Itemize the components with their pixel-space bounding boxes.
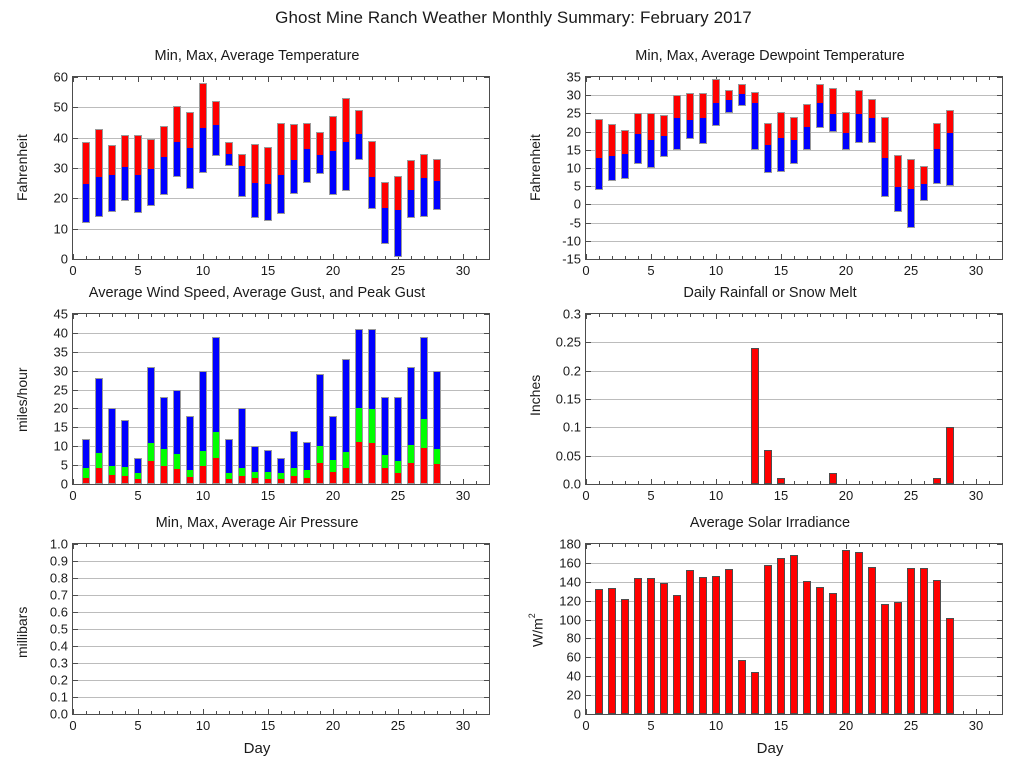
y-tick-mark (997, 563, 1002, 564)
bar-wind (290, 431, 298, 484)
bar-wind (342, 359, 350, 484)
bar-segment-max (921, 167, 927, 183)
bar (608, 588, 616, 714)
bar-segment-avg-wind (109, 475, 115, 484)
bar-segment-avg-gust (356, 408, 362, 442)
bar-segment-peak-gust (343, 360, 349, 451)
x-tick-mark-minor (411, 77, 412, 80)
bar-minmax (790, 117, 798, 164)
x-tick-mark-minor (768, 544, 769, 547)
x-tick-mark-minor (216, 77, 217, 80)
bar-segment-avg-wind (200, 466, 206, 484)
x-tick-mark-minor (950, 314, 951, 317)
x-tick-mark-minor (190, 314, 191, 317)
bar (751, 348, 759, 484)
bar-minmax (368, 141, 376, 209)
x-tick-label: 30 (456, 263, 470, 278)
x-tick-mark (976, 709, 977, 714)
x-tick-mark-minor (476, 77, 477, 80)
bar-segment-min (135, 175, 141, 213)
bar-segment-avg-wind (291, 476, 297, 484)
x-tick-mark-minor (833, 544, 834, 547)
bar-wind (225, 439, 233, 484)
x-tick-mark-minor (476, 314, 477, 317)
x-tick-mark-minor (989, 481, 990, 484)
x-tick-mark-minor (872, 544, 873, 547)
x-tick-label: 10 (709, 263, 723, 278)
x-tick-mark-minor (963, 314, 964, 317)
bar-wind (238, 408, 246, 484)
x-tick-mark-minor (164, 711, 165, 714)
y-axis-label-solar-superscript: 2 (527, 613, 537, 618)
x-tick-mark (586, 254, 587, 259)
x-tick-mark-minor (372, 256, 373, 259)
bar-segment-max (934, 124, 940, 149)
bar (712, 576, 720, 714)
bar-segment-min (713, 103, 719, 126)
bar-segment-avg-gust (343, 452, 349, 468)
bar-wind (264, 450, 272, 484)
x-tick-label: 15 (261, 488, 275, 503)
x-tick-mark-minor (411, 544, 412, 547)
bar (764, 565, 772, 714)
x-tick-mark-minor (833, 256, 834, 259)
x-tick-mark-minor (294, 314, 295, 317)
bar-segment-min (148, 169, 154, 206)
y-tick-label: 10 (54, 439, 68, 454)
x-tick-mark-minor (190, 77, 191, 80)
x-tick-mark-minor (599, 481, 600, 484)
bar-segment-peak-gust (109, 409, 115, 466)
bar-wind (147, 367, 155, 484)
bar-wind (277, 458, 285, 484)
x-tick-mark-minor (437, 256, 438, 259)
bar (868, 567, 876, 714)
x-tick-mark-minor (177, 544, 178, 547)
y-tick-mark (586, 620, 591, 621)
plot-area-pressure: 0.00.10.20.30.40.50.60.70.80.91.00510152… (72, 543, 490, 715)
x-tick-mark-minor (859, 77, 860, 80)
x-tick-mark-minor (690, 314, 691, 317)
y-tick-mark (997, 259, 1002, 260)
x-tick-mark-minor (489, 544, 490, 547)
x-tick-mark (463, 254, 464, 259)
x-tick-label: 20 (326, 488, 340, 503)
bar-minmax (277, 123, 285, 214)
gridline (73, 646, 489, 647)
bar-segment-max (148, 140, 154, 169)
bar-minmax (673, 95, 681, 150)
bar-segment-avg-wind (304, 478, 310, 484)
bar-minmax (173, 106, 181, 177)
x-tick-mark-minor (794, 544, 795, 547)
x-tick-mark-minor (151, 544, 152, 547)
bar-minmax (608, 124, 616, 180)
bar-minmax (946, 110, 954, 186)
x-tick-mark (73, 479, 74, 484)
x-tick-mark-minor (807, 256, 808, 259)
bar-wind (108, 408, 116, 484)
x-tick-mark-minor (476, 544, 477, 547)
x-tick-mark-minor (859, 314, 860, 317)
x-tick-mark-minor (112, 711, 113, 714)
y-tick-mark (997, 186, 1002, 187)
bar-minmax (108, 145, 116, 212)
y-tick-label: -10 (562, 233, 581, 248)
x-tick-mark-minor (898, 481, 899, 484)
x-tick-mark-minor (820, 314, 821, 317)
y-tick-label: 20 (54, 191, 68, 206)
x-tick-mark-minor (281, 77, 282, 80)
bar-minmax (433, 159, 441, 211)
bar-segment-max (674, 96, 680, 118)
x-tick-mark-minor (437, 711, 438, 714)
y-tick-mark (997, 150, 1002, 151)
x-tick-label: 0 (582, 263, 589, 278)
x-tick-mark-minor (99, 314, 100, 317)
x-tick-mark-minor (359, 77, 360, 80)
x-tick-label: 5 (134, 488, 141, 503)
x-tick-mark (268, 77, 269, 82)
gridline (73, 697, 489, 698)
y-tick-mark (484, 595, 489, 596)
bar-wind (173, 390, 181, 484)
bar-segment-peak-gust (200, 372, 206, 451)
bar-minmax (933, 123, 941, 185)
x-tick-mark (463, 77, 464, 82)
x-tick-mark (463, 314, 464, 319)
x-tick-label: 15 (261, 718, 275, 733)
bar-segment-max (122, 136, 128, 168)
x-tick-mark-minor (359, 314, 360, 317)
x-tick-mark-minor (242, 256, 243, 259)
bar-segment-max (661, 116, 667, 136)
x-tick-mark-minor (937, 256, 938, 259)
bar-segment-max (408, 161, 414, 190)
x-tick-mark-minor (599, 77, 600, 80)
bar-segment-max (648, 114, 654, 139)
y-tick-mark (484, 352, 489, 353)
y-tick-label: 0.0 (50, 707, 68, 722)
bar-minmax (621, 130, 629, 179)
bar-segment-peak-gust (96, 379, 102, 453)
bar (699, 577, 707, 714)
y-tick-mark (586, 150, 591, 151)
bar-segment-min (200, 128, 206, 173)
bar-minmax (121, 135, 129, 202)
bar-segment-min (304, 149, 310, 183)
bar (777, 558, 785, 714)
y-axis-label-solar-base: W/m (530, 618, 546, 647)
x-tick-label: 20 (326, 718, 340, 733)
bar-minmax (212, 101, 220, 156)
x-tick-mark (333, 77, 334, 82)
y-tick-mark (586, 168, 591, 169)
bar-segment-avg-wind (122, 476, 128, 484)
x-tick-mark (138, 709, 139, 714)
x-tick-mark-minor (242, 544, 243, 547)
bar-segment-peak-gust (148, 368, 154, 443)
y-tick-label: 30 (54, 161, 68, 176)
x-tick-mark-minor (242, 314, 243, 317)
bar-minmax (264, 147, 272, 221)
x-tick-mark-minor (885, 481, 886, 484)
bar-segment-min (817, 103, 823, 127)
bar-minmax (738, 84, 746, 106)
bar-segment-peak-gust (395, 398, 401, 461)
gridline (586, 427, 1002, 428)
bar (790, 555, 798, 714)
x-tick-mark-minor (307, 314, 308, 317)
x-tick-mark (716, 544, 717, 549)
x-tick-label: 5 (134, 263, 141, 278)
x-tick-mark-minor (424, 314, 425, 317)
y-tick-label: 140 (559, 574, 581, 589)
bar-segment-avg-gust (265, 472, 271, 480)
y-tick-mark (73, 427, 78, 428)
x-tick-mark-minor (989, 711, 990, 714)
y-tick-mark (484, 484, 489, 485)
x-tick-mark-minor (437, 314, 438, 317)
x-tick-mark-minor (242, 711, 243, 714)
x-tick-mark-minor (255, 711, 256, 714)
x-tick-mark-minor (450, 544, 451, 547)
bar-segment-avg-wind (226, 479, 232, 484)
x-tick-mark-minor (1002, 544, 1003, 547)
y-tick-mark (997, 620, 1002, 621)
x-tick-mark-minor (489, 77, 490, 80)
x-tick-mark-minor (190, 256, 191, 259)
bar-minmax (303, 123, 311, 184)
y-tick-label: 5 (61, 458, 68, 473)
bar-segment-min (265, 184, 271, 221)
x-tick-mark (463, 544, 464, 549)
x-tick-label: 15 (774, 718, 788, 733)
y-tick-mark (586, 601, 591, 602)
bar-segment-avg-gust (239, 468, 245, 476)
x-tick-mark (268, 314, 269, 319)
x-tick-mark-minor (411, 314, 412, 317)
chart-title-rainfall: Daily Rainfall or Snow Melt (513, 285, 1027, 301)
x-tick-mark-minor (294, 711, 295, 714)
y-tick-mark (586, 95, 591, 96)
y-tick-label: 60 (567, 650, 581, 665)
x-tick-label: 20 (839, 488, 853, 503)
x-tick-mark-minor (151, 711, 152, 714)
x-tick-mark (716, 479, 717, 484)
bar-segment-avg-wind (382, 468, 388, 484)
bar-minmax (95, 129, 103, 217)
bar-minmax (725, 90, 733, 114)
bar-segment-max (83, 143, 89, 184)
bar (855, 552, 863, 714)
x-tick-mark-minor (898, 314, 899, 317)
x-tick-mark (398, 77, 399, 82)
x-tick-mark-minor (807, 77, 808, 80)
bar-segment-avg-wind (408, 463, 414, 484)
y-tick-label: 35 (567, 70, 581, 85)
x-tick-mark-minor (294, 77, 295, 80)
bar-wind (95, 378, 103, 484)
x-axis-label-pressure: Day (0, 740, 514, 757)
y-tick-label: 100 (559, 612, 581, 627)
x-tick-label: 30 (969, 718, 983, 733)
x-tick-mark-minor (1002, 77, 1003, 80)
y-tick-mark (73, 446, 78, 447)
x-tick-mark (846, 314, 847, 319)
x-tick-mark-minor (989, 544, 990, 547)
y-tick-mark (73, 138, 78, 139)
y-tick-mark (73, 612, 78, 613)
bar-segment-peak-gust (330, 417, 336, 460)
x-tick-mark-minor (872, 77, 873, 80)
y-tick-mark (73, 390, 78, 391)
y-tick-label: 45 (54, 307, 68, 322)
x-tick-mark (976, 479, 977, 484)
bar-segment-max (856, 91, 862, 115)
x-tick-mark-minor (489, 314, 490, 317)
y-axis-label-pressure: millibars (14, 557, 30, 707)
y-tick-mark (73, 697, 78, 698)
x-tick-mark (333, 544, 334, 549)
bar-wind (303, 442, 311, 484)
x-tick-mark-minor (385, 256, 386, 259)
chart-panel-wind: Average Wind Speed, Average Gust, and Pe… (0, 285, 514, 517)
bar-minmax (160, 126, 168, 196)
x-tick-mark-minor (963, 544, 964, 547)
y-tick-label: 0.2 (50, 673, 68, 688)
x-tick-mark-minor (450, 314, 451, 317)
bar-segment-max (830, 89, 836, 114)
bar (803, 581, 811, 714)
x-tick-mark-minor (177, 77, 178, 80)
x-tick-mark-minor (255, 256, 256, 259)
y-axis-label-solar: W/m2 (527, 565, 546, 695)
bar-segment-avg-wind (265, 479, 271, 484)
y-tick-label: 20 (54, 401, 68, 416)
bar-wind (407, 367, 415, 484)
bar-segment-avg-wind (434, 464, 440, 484)
bar-segment-min (635, 134, 641, 164)
x-tick-mark-minor (476, 481, 477, 484)
y-tick-mark (484, 561, 489, 562)
bar-segment-avg-wind (174, 469, 180, 484)
x-tick-mark-minor (450, 481, 451, 484)
bar-segment-avg-wind (356, 442, 362, 484)
bar-segment-max (622, 131, 628, 155)
x-tick-mark-minor (255, 544, 256, 547)
x-tick-mark-minor (924, 256, 925, 259)
bar-segment-avg-wind (161, 466, 167, 484)
bar-segment-min (934, 149, 940, 184)
bar-segment-min (882, 158, 888, 197)
x-tick-mark-minor (755, 314, 756, 317)
x-tick-mark (73, 77, 74, 82)
bar (907, 568, 915, 714)
gridline (73, 612, 489, 613)
bar-segment-avg-wind (421, 448, 427, 484)
bar-segment-min (609, 156, 615, 180)
x-tick-mark-minor (625, 314, 626, 317)
bar-segment-min (843, 133, 849, 150)
x-tick-mark-minor (742, 314, 743, 317)
x-tick-mark (398, 314, 399, 319)
bar-minmax (225, 142, 233, 166)
y-tick-mark (586, 657, 591, 658)
x-tick-mark-minor (885, 256, 886, 259)
bar-segment-avg-gust (174, 454, 180, 469)
bar-segment-avg-wind (213, 458, 219, 484)
x-tick-mark-minor (281, 314, 282, 317)
y-tick-label: 40 (54, 130, 68, 145)
y-tick-label: 0.7 (50, 588, 68, 603)
x-tick-mark-minor (937, 314, 938, 317)
x-tick-mark-minor (450, 77, 451, 80)
x-tick-mark-minor (638, 481, 639, 484)
x-tick-label: 0 (582, 488, 589, 503)
bar-segment-peak-gust (382, 398, 388, 455)
x-tick-label: 25 (391, 488, 405, 503)
y-tick-label: 0 (574, 197, 581, 212)
x-tick-mark-minor (664, 544, 665, 547)
bar-segment-min (226, 154, 232, 167)
x-tick-mark-minor (937, 544, 938, 547)
x-tick-mark-minor (346, 314, 347, 317)
y-tick-mark (997, 95, 1002, 96)
bar-segment-min (791, 140, 797, 164)
bar-segment-peak-gust (408, 368, 414, 445)
y-tick-label: 25 (54, 382, 68, 397)
chart-title-solar: Average Solar Irradiance (513, 515, 1027, 531)
bar-wind (186, 416, 194, 484)
x-tick-mark (73, 314, 74, 319)
bar-segment-max (356, 111, 362, 134)
x-tick-mark-minor (820, 544, 821, 547)
x-tick-mark-minor (372, 77, 373, 80)
y-tick-label: 0.05 (556, 448, 581, 463)
x-tick-mark (716, 314, 717, 319)
y-tick-label: 180 (559, 537, 581, 552)
x-tick-label: 15 (774, 488, 788, 503)
x-tick-mark-minor (755, 77, 756, 80)
bar-segment-min (213, 125, 219, 156)
bar-wind (433, 371, 441, 484)
x-tick-mark-minor (229, 544, 230, 547)
x-tick-mark-minor (833, 77, 834, 80)
bar-segment-avg-wind (83, 478, 89, 484)
x-tick-mark-minor (450, 256, 451, 259)
bar-minmax (355, 110, 363, 160)
x-tick-mark (781, 314, 782, 319)
x-tick-mark (398, 544, 399, 549)
y-tick-label: 10 (54, 221, 68, 236)
x-tick-mark-minor (346, 256, 347, 259)
y-tick-mark (997, 484, 1002, 485)
bar-segment-avg-wind (96, 468, 102, 484)
bar-segment-max (421, 155, 427, 178)
bar-segment-peak-gust (356, 330, 362, 407)
x-tick-label: 10 (709, 718, 723, 733)
x-tick-mark (716, 254, 717, 259)
x-tick-mark-minor (489, 711, 490, 714)
y-axis-label-rainfall: Inches (527, 325, 543, 465)
bar-segment-avg-wind (278, 479, 284, 484)
bar (920, 568, 928, 714)
bar-segment-min (648, 140, 654, 168)
x-tick-mark-minor (859, 481, 860, 484)
x-tick-mark-minor (963, 711, 964, 714)
x-tick-mark-minor (476, 711, 477, 714)
